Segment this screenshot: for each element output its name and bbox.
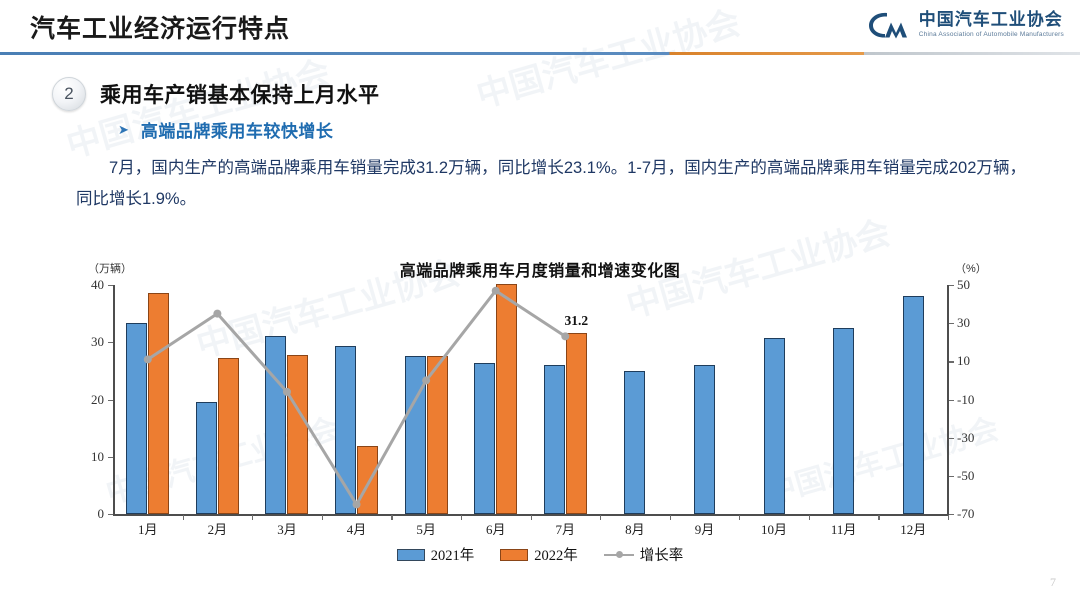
x-axis-label-11月: 11月 [831,519,857,538]
y-tick-label-right: -70 [957,506,974,522]
chart-container: 高端品牌乘用车月度销量和增速变化图 （万辆） （%） 010203040 -70… [0,252,1080,602]
x-tick-mark [739,515,740,520]
chart-plot-area: 010203040 -70-50-30-10103050 1月2月3月4月5月6… [113,285,948,515]
y-tick-mark-right [949,514,954,515]
y-tick-label-left: 0 [98,506,105,522]
x-tick-mark [461,515,462,520]
y-axis-unit-right: （%） [955,260,987,276]
x-axis-label-7月: 7月 [556,519,576,538]
x-axis-label-12月: 12月 [900,519,926,538]
y-tick-mark-right [949,438,954,439]
subsection-title: 高端品牌乘用车较快增长 [141,117,334,142]
y-tick-label-right: -50 [957,468,974,484]
y-tick-label-right: -10 [957,392,974,408]
y-tick-mark-right [949,476,954,477]
growth-rate-point-2月[interactable] [213,310,221,318]
x-axis-label-9月: 9月 [695,519,715,538]
x-tick-mark [948,515,949,520]
x-tick-mark [809,515,810,520]
x-axis-label-2月: 2月 [208,519,228,538]
x-axis-label-4月: 4月 [347,519,367,538]
y-axis-unit-left: （万辆） [88,260,132,276]
x-axis-label-8月: 8月 [625,519,645,538]
x-tick-mark [322,515,323,520]
x-tick-mark [183,515,184,520]
growth-rate-point-7月[interactable] [561,332,569,340]
y-tick-label-left: 40 [91,277,104,293]
x-tick-mark [878,515,879,520]
growth-rate-polyline [148,291,565,505]
chart-legend: 2021年 2022年 增长率 [0,544,1080,565]
y-tick-mark-right [949,323,954,324]
x-axis-label-1月: 1月 [138,519,158,538]
y-tick-label-left: 10 [91,449,104,465]
legend-item-2021[interactable]: 2021年 [397,544,475,565]
data-label-7月: 31.2 [564,313,588,329]
page-header: 汽车工业经济运行特点 中国汽车工业协会 China Association of… [0,0,1080,57]
x-tick-mark [531,515,532,520]
x-axis-label-10月: 10月 [761,519,787,538]
section-heading: 2 乘用车产销基本保持上月水平 [52,77,380,111]
logo-chinese-name: 中国汽车工业协会 [919,11,1064,29]
x-tick-mark [600,515,601,520]
legend-label-2021: 2021年 [431,544,475,565]
growth-rate-point-1月[interactable] [144,355,152,363]
legend-item-2022[interactable]: 2022年 [500,544,578,565]
section-title: 乘用车产销基本保持上月水平 [100,79,380,109]
y-tick-label-right: 30 [957,315,970,331]
y-tick-label-right: -30 [957,430,974,446]
growth-rate-point-4月[interactable] [353,500,361,508]
y-tick-mark-right [949,361,954,362]
legend-swatch-growth-rate [604,550,634,560]
chart-title: 高端品牌乘用车月度销量和增速变化图 [0,257,1080,281]
section-number-badge: 2 [52,77,86,111]
arrow-right-icon: ➤ [118,123,129,136]
y-tick-mark-right [949,285,954,286]
x-axis-label-3月: 3月 [277,519,297,538]
growth-rate-point-6月[interactable] [492,287,500,295]
legend-item-growth-rate[interactable]: 增长率 [604,544,684,565]
page-number: 7 [1050,575,1056,590]
body-paragraph: 7月，国内生产的高端品牌乘用车销量完成31.2万辆，同比增长23.1%。1-7月… [76,153,1026,214]
y-tick-label-left: 20 [91,392,104,408]
subsection-heading: ➤ 高端品牌乘用车较快增长 [118,117,333,142]
x-tick-mark [670,515,671,520]
y-tick-mark-left [108,514,113,515]
x-tick-mark [252,515,253,520]
y-tick-label-right: 50 [957,277,970,293]
growth-rate-line-series [113,285,948,514]
growth-rate-point-5月[interactable] [422,376,430,384]
legend-swatch-2022 [500,549,528,561]
logo-english-name: China Association of Automobile Manufact… [919,32,1064,39]
legend-swatch-2021 [397,549,425,561]
x-tick-mark [391,515,392,520]
y-tick-mark-right [949,400,954,401]
cam-logo-icon [865,8,911,42]
legend-label-2022: 2022年 [534,544,578,565]
header-divider [0,52,1080,55]
legend-label-growth-rate: 增长率 [640,544,684,565]
organization-logo: 中国汽车工业协会 China Association of Automobile… [865,8,1064,42]
x-axis-label-5月: 5月 [416,519,436,538]
x-axis-label-6月: 6月 [486,519,506,538]
page-title: 汽车工业经济运行特点 [30,9,290,45]
y-tick-label-right: 10 [957,353,970,369]
y-tick-label-left: 30 [91,334,104,350]
growth-rate-point-3月[interactable] [283,388,291,396]
